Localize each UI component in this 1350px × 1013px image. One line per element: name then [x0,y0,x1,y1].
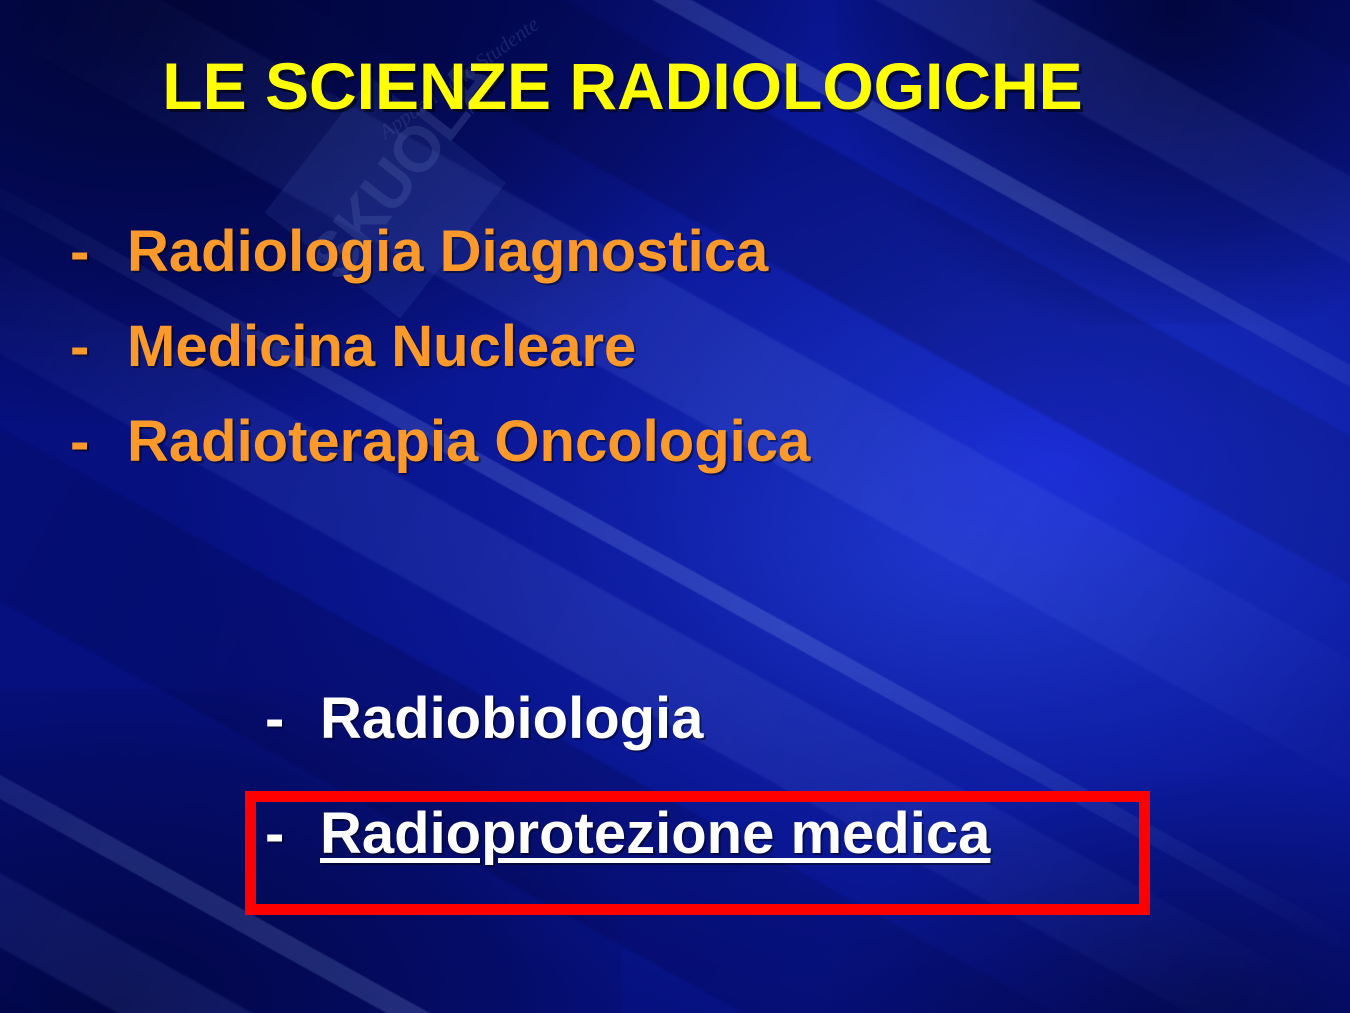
bullet-dash-icon: - [70,408,127,475]
list-item-label: Radiobiologia [320,685,703,752]
list-item-label: Radiologia Diagnostica [127,218,768,285]
list-item-radioterapia-oncologica: - Radioterapia Oncologica [70,408,810,475]
list-item-radiobiologia: - Radiobiologia [265,685,703,752]
bullet-dash-icon: - [70,218,127,285]
list-item-radioprotezione-medica: - Radioprotezione medica [265,800,990,867]
bullet-dash-icon: - [265,800,320,867]
slide-title: LE SCIENZE RADIOLOGICHE [0,48,1245,124]
list-item-label: Radioprotezione medica [320,800,990,867]
bullet-dash-icon: - [70,313,127,380]
list-item-radiologia-diagnostica: - Radiologia Diagnostica [70,218,768,285]
slide-content: LE SCIENZE RADIOLOGICHE - Radiologia Dia… [0,0,1350,1013]
presentation-slide: SKUOLA Appunti dello Studente LE SCIENZE… [0,0,1350,1013]
bullet-dash-icon: - [265,685,320,752]
list-item-label: Medicina Nucleare [127,313,636,380]
list-item-medicina-nucleare: - Medicina Nucleare [70,313,636,380]
list-item-label: Radioterapia Oncologica [127,408,810,475]
